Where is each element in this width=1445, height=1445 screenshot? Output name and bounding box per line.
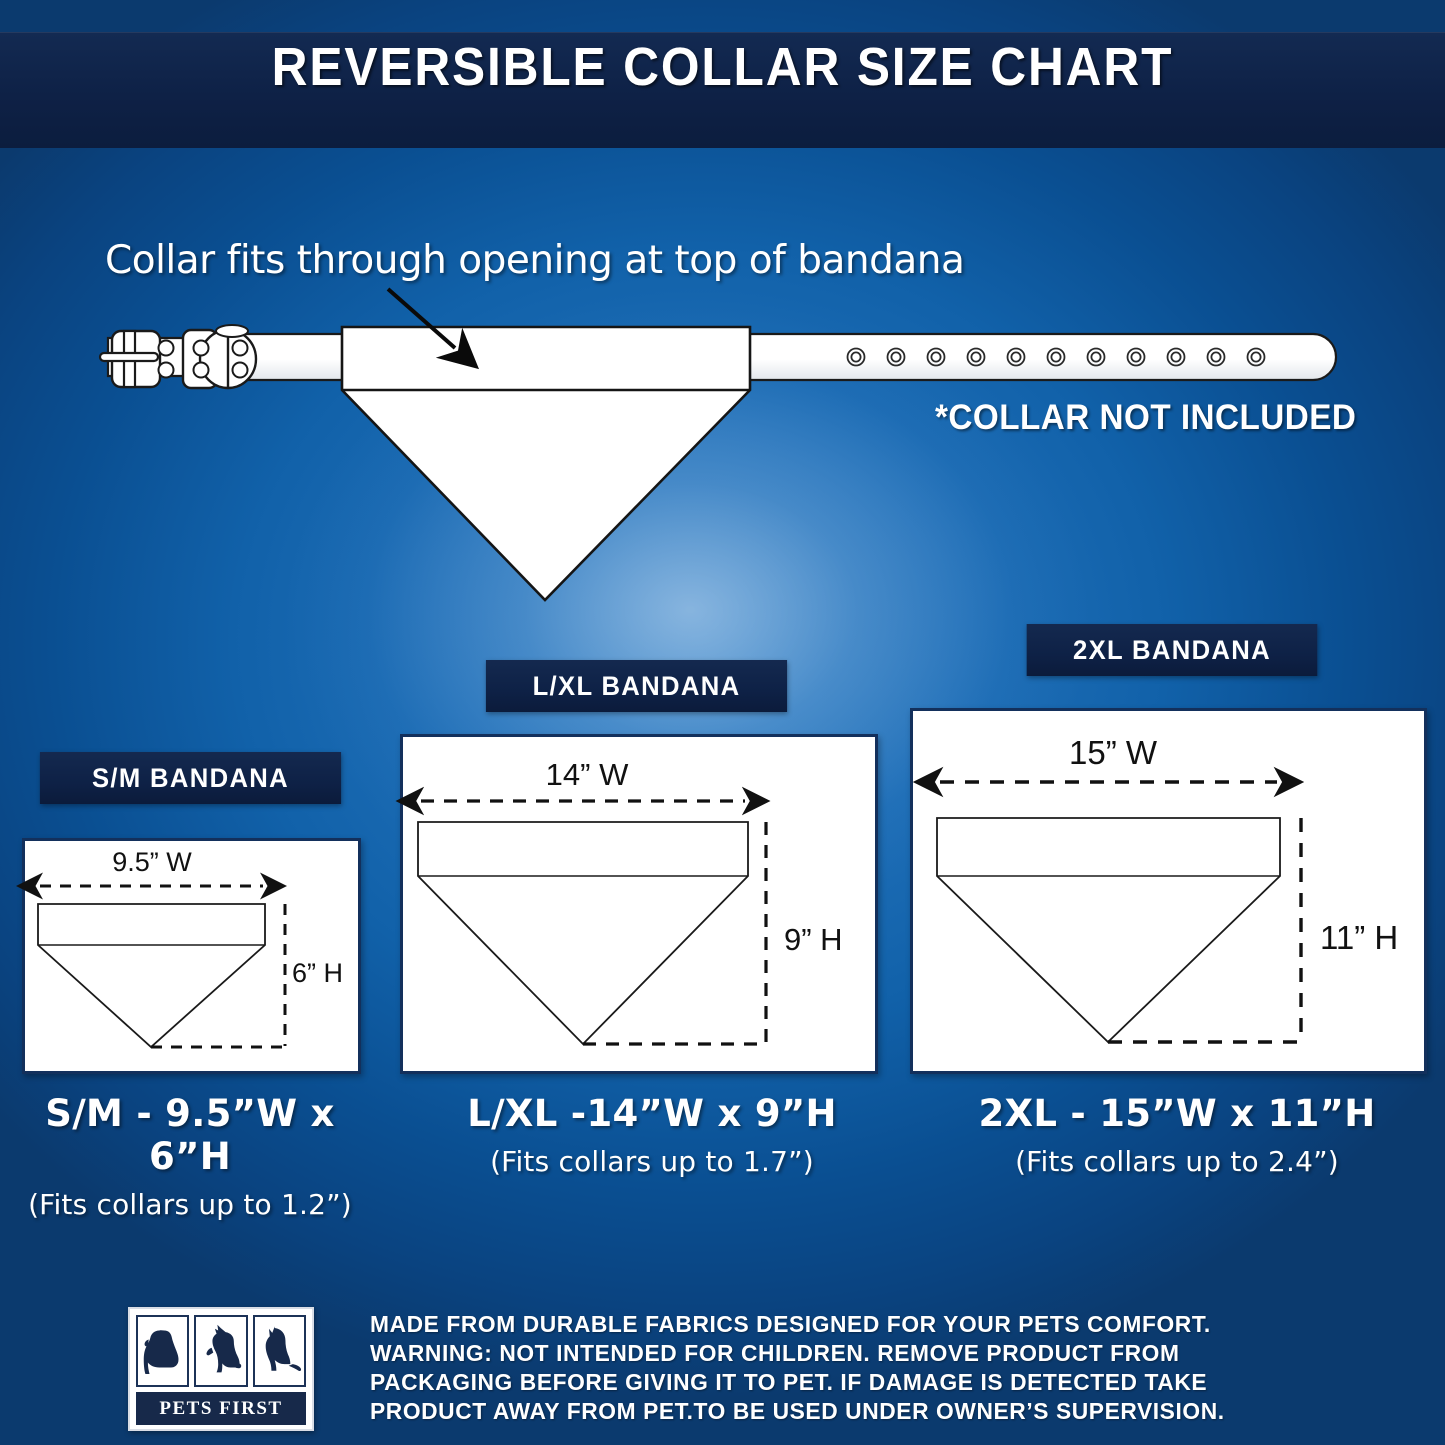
footer-legal-text: MADE FROM DURABLE FABRICS DESIGNED FOR Y… — [370, 1310, 1325, 1426]
dog-silhouette-panel-1 — [136, 1315, 189, 1387]
size-label-sm: S/M BANDANA — [40, 752, 341, 804]
callout-text: Collar fits through opening at top of ba… — [105, 238, 964, 283]
buckle-frame — [112, 331, 160, 387]
caption-lxl: L/XL -14”W x 9”H (Fits collars up to 1.7… — [452, 1092, 852, 1178]
collar-strap — [100, 325, 1336, 388]
caption-xxl: 2XL - 15”W x 11”H (Fits collars up to 2.… — [972, 1092, 1382, 1178]
size-label-xxl: 2XL BANDANA — [1027, 624, 1318, 676]
pets-first-logo: PETS FIRST — [128, 1307, 314, 1431]
dim-height-sm: 6” H — [292, 958, 343, 989]
dim-height-xxl: 11” H — [1320, 919, 1398, 957]
logo-wordmark: PETS FIRST — [136, 1392, 306, 1425]
size-label-lxl-text: L/XL BANDANA — [533, 671, 741, 702]
caption-sm-sub: (Fits collars up to 1.2”) — [0, 1188, 380, 1221]
dim-width-lxl: 14” W — [492, 757, 682, 793]
footer-line-4: PRODUCT AWAY FROM PET.TO BE USED UNDER O… — [370, 1397, 1325, 1426]
size-chart-poster: REVERSIBLE COLLAR SIZE CHART Collar fits… — [0, 0, 1445, 1445]
collar-holes — [848, 349, 1265, 366]
footer-line-2: WARNING: NOT INTENDED FOR CHILDREN. REMO… — [370, 1339, 1325, 1368]
begging-dog-icon — [196, 1317, 245, 1385]
pointer-arrow — [388, 289, 455, 348]
bandana-illustration — [342, 327, 750, 600]
buckle-prong — [100, 353, 158, 361]
disclaimer-text: *COLLAR NOT INCLUDED — [935, 398, 1356, 438]
size-label-xxl-text: 2XL BANDANA — [1073, 635, 1271, 666]
dog-silhouette-panel-3 — [253, 1315, 306, 1387]
size-label-lxl: L/XL BANDANA — [486, 660, 787, 712]
caption-lxl-title: L/XL -14”W x 9”H — [452, 1092, 852, 1135]
page-title: REVERSIBLE COLLAR SIZE CHART — [58, 36, 1387, 98]
keeper-loop-2 — [200, 330, 256, 388]
caption-sm: S/M - 9.5”W x 6”H (Fits collars up to 1.… — [0, 1092, 380, 1221]
logo-dog-panels — [136, 1315, 306, 1387]
keeper-loop-1 — [183, 330, 217, 388]
dim-height-lxl: 9” H — [784, 922, 843, 958]
shepherd-dog-icon — [255, 1317, 304, 1385]
sitting-dog-icon — [138, 1317, 187, 1385]
caption-xxl-title: 2XL - 15”W x 11”H — [972, 1092, 1382, 1135]
footer-line-3: PACKAGING BEFORE GIVING IT TO PET. IF DA… — [370, 1368, 1325, 1397]
caption-lxl-sub: (Fits collars up to 1.7”) — [452, 1145, 852, 1178]
dog-silhouette-panel-2 — [194, 1315, 247, 1387]
footer-line-1: MADE FROM DURABLE FABRICS DESIGNED FOR Y… — [370, 1310, 1325, 1339]
size-label-sm-text: S/M BANDANA — [92, 763, 289, 794]
caption-xxl-sub: (Fits collars up to 2.4”) — [972, 1145, 1382, 1178]
dim-width-xxl: 15” W — [1018, 734, 1208, 772]
caption-sm-title: S/M - 9.5”W x 6”H — [0, 1092, 380, 1178]
dim-width-sm: 9.5” W — [62, 847, 242, 878]
